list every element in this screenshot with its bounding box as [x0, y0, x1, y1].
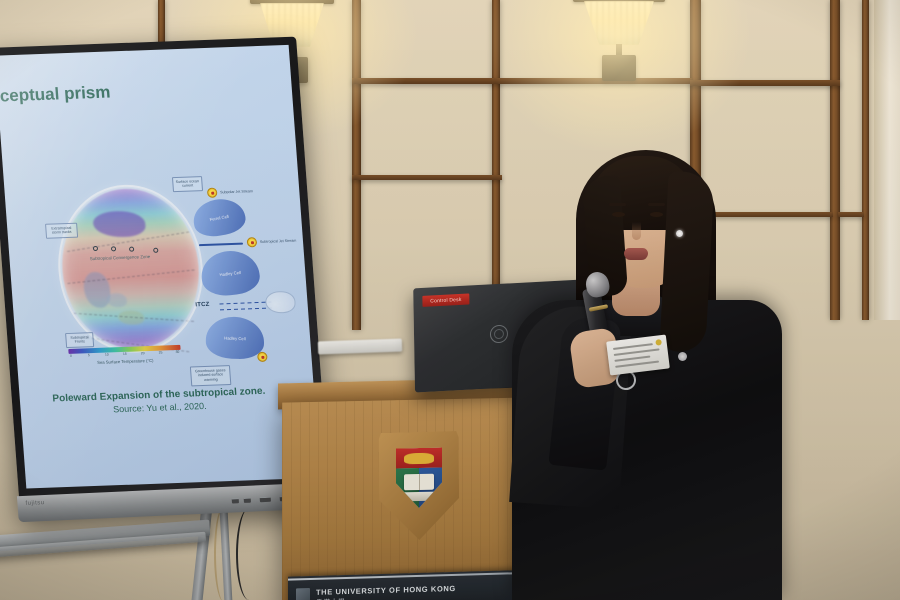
globe-rim [52, 182, 208, 355]
slide-surface[interactable]: e, and a conceptual prism arch world's g… [0, 45, 320, 489]
sign-title: THE UNIVERSITY OF HONG KONG [316, 584, 456, 597]
climate-figure: Subtropical Convergence Zone Extratropic… [48, 178, 212, 373]
callout-greenhouse-warming: Greenhouse gases induced surface warming [190, 365, 231, 386]
slide-body-line: world's [0, 194, 44, 217]
hdmi-port-icon[interactable] [260, 497, 271, 502]
crest-lion [404, 453, 433, 464]
subtropical-jet-marker [247, 237, 258, 247]
presentation-display[interactable]: fujitsu e, and a conceptual prism arch w… [0, 37, 330, 517]
right-wall-sconce [573, 0, 665, 90]
wall-rail [838, 212, 864, 217]
subpolar-jet-label: Subpolar Jet Stream [220, 189, 253, 194]
subtropical-jet-marker-south [257, 352, 268, 362]
front-marker [111, 246, 116, 251]
sconce-ribs [584, 1, 654, 45]
eye-right [650, 212, 663, 217]
itcz-label: ITCZ [195, 302, 210, 309]
eyebrow-right [648, 203, 665, 206]
colorbar-tick: 5 [88, 353, 90, 357]
subtropical-jet-label: Subtropical Jet Stream [260, 239, 297, 244]
photo-scene: fujitsu e, and a conceptual prism arch w… [0, 0, 900, 600]
wall-batten [830, 0, 840, 320]
sconce-wall-mount [602, 55, 637, 81]
usb-port-icon[interactable] [232, 498, 239, 503]
hair-side-right [659, 171, 714, 353]
signal-cable [214, 506, 234, 600]
itcz-cloud [265, 291, 297, 314]
colorbar-tick: 10 [105, 352, 109, 356]
display-brand-logo: fujitsu [25, 500, 45, 507]
itcz-flow-arrow [220, 308, 272, 311]
wall-batten [492, 0, 500, 300]
lapel-brooch [678, 352, 687, 361]
front-marker [153, 248, 158, 253]
callout-subtropical-fronts: Subtropical Fronts [65, 332, 94, 348]
mouth [624, 248, 648, 260]
name-badge [606, 334, 670, 375]
colorbar-tick: 25 [159, 350, 163, 354]
callout-surface-ocean-current: Surface ocean current [172, 176, 203, 192]
dell-logo-icon [490, 324, 508, 343]
hadley-cell-south: Hadley Cell [206, 316, 264, 360]
subpolar-jet-marker [207, 188, 218, 198]
colorbar-tick: 30 [175, 349, 179, 353]
hadley-cell-north: Hadley Cell [198, 248, 262, 298]
colorbar-tick: 0 [70, 353, 72, 357]
earring [676, 230, 683, 237]
slide-title: e, and a conceptual prism arch [0, 78, 204, 135]
badge-text-line [615, 361, 659, 368]
itcz-flow-arrow [219, 302, 271, 305]
power-cable [236, 508, 262, 600]
figure-caption: Poleward Expansion of the subtropical zo… [43, 385, 275, 416]
wall-rail [698, 212, 833, 217]
wall-rail [690, 80, 840, 86]
badge-emblem-icon [655, 339, 662, 346]
badge-text-line [614, 356, 650, 362]
wall-batten [352, 0, 361, 330]
colorbar-tick: 20 [141, 351, 145, 355]
jet-bar [199, 243, 243, 247]
usb-port-icon[interactable] [244, 498, 251, 503]
colorbar-tick: 15 [123, 351, 127, 355]
laptop-asset-sticker: Control Desk [422, 293, 469, 306]
badge-text-line [614, 348, 660, 356]
callout-storm-tracks: Extratropical storm tracks [45, 223, 78, 239]
wall-rail [352, 175, 502, 180]
nose [632, 222, 641, 240]
slide-body-block: world's [0, 194, 44, 217]
wall-batten [862, 0, 869, 320]
wall-pillar [874, 0, 900, 320]
front-marker [93, 246, 98, 251]
crest-open-book [404, 474, 433, 490]
university-logo-icon [296, 588, 310, 600]
eye-left [612, 212, 625, 217]
eyebrow-left [609, 203, 626, 206]
